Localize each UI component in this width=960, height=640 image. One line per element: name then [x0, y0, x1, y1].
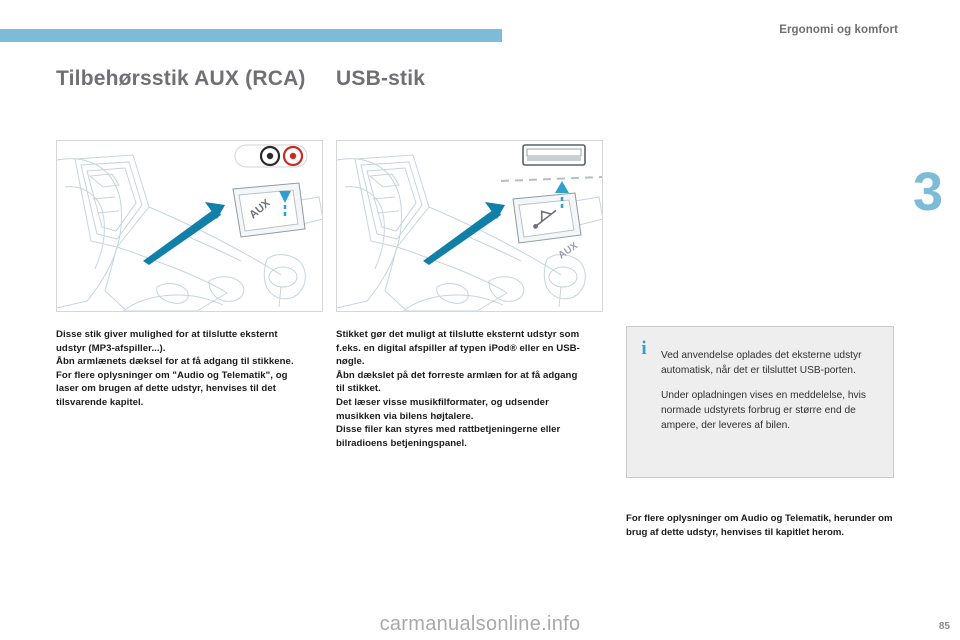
usb-paragraph-1: Stikket gør det muligt at tilslutte ekst…	[336, 328, 588, 369]
aux-paragraph-3: For flere oplysninger om "Audio og Telem…	[56, 369, 308, 410]
info-paragraph-2: Under opladningen vises en meddelelse, h…	[661, 388, 881, 433]
info-icon-glyph: i	[641, 339, 646, 358]
aux-body-copy: Disse stik giver mulighed for at tilslut…	[56, 328, 308, 410]
usb-console-illustration: AUX	[336, 140, 603, 312]
info-icon: i	[627, 327, 661, 477]
usb-paragraph-2: Åbn dækslet på det forreste armlæn for a…	[336, 369, 588, 396]
usb-paragraph-4: Disse filer kan styres med rattbetjening…	[336, 423, 588, 450]
info-paragraph-1: Ved anvendelse oplades det eksterne udst…	[661, 348, 881, 378]
aux-paragraph-1: Disse stik giver mulighed for at tilslut…	[56, 328, 308, 355]
info-callout-text: Ved anvendelse oplades det eksterne udst…	[661, 327, 893, 477]
page-number: 85	[939, 621, 950, 632]
aux-console-illustration: AUX	[56, 140, 323, 312]
header-rule	[0, 29, 502, 42]
svg-text:AUX: AUX	[556, 240, 580, 261]
chapter-tab	[902, 0, 960, 300]
section-title-aux: Tilbehørsstik AUX (RCA)	[56, 66, 306, 91]
aux-paragraph-2: Åbn armlænets dæksel for at få adgang ti…	[56, 355, 308, 369]
usb-body-copy: Stikket gør det muligt at tilslutte ekst…	[336, 328, 588, 450]
site-watermark: carmanualsonline.info	[0, 613, 960, 636]
manual-page: Ergonomi og komfort 3 Tilbehørsstik AUX …	[0, 0, 960, 640]
info-callout-box: i Ved anvendelse oplades det eksterne ud…	[626, 326, 894, 478]
section-title-usb: USB-stik	[336, 66, 586, 91]
usb-paragraph-3: Det læser visse musikfilformater, og uds…	[336, 396, 588, 423]
chapter-header-title: Ergonomi og komfort	[779, 24, 898, 36]
closing-note: For flere oplysninger om Audio og Telema…	[626, 512, 894, 539]
chapter-number: 3	[913, 165, 942, 219]
